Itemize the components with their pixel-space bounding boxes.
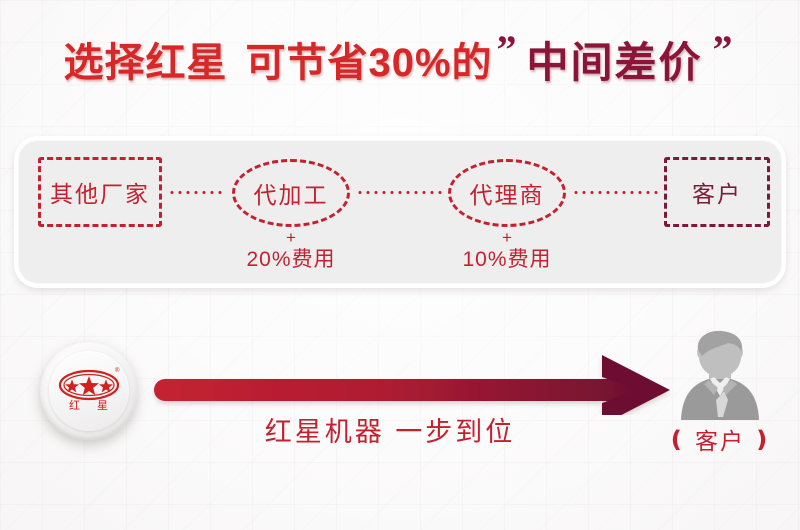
connector-dots-3 xyxy=(572,191,658,194)
bracket-left-icon: ❪ xyxy=(667,426,688,453)
quote-close-mark: ” xyxy=(709,26,737,73)
customer-caption: ❪ 客户 ❫ xyxy=(652,423,788,455)
chain-node-other-factory-label: 其他厂家 xyxy=(50,175,150,209)
fee-plus-sign-agent: + xyxy=(427,230,587,246)
chain-node-oem-label: 代加工 xyxy=(254,176,329,210)
chain-node-client-label: 客户 xyxy=(692,175,742,209)
chain-node-oem: 代加工 xyxy=(232,159,350,227)
headline-middle: 可节省30%的 xyxy=(245,30,492,88)
fee-amount-agent: 10%费用 xyxy=(427,246,587,274)
supply-chain-panel: 其他厂家 代加工 代理商 客户 + 20%费用 + 10%费用 xyxy=(14,136,786,288)
customer-avatar xyxy=(666,322,774,430)
chain-node-agent-label: 代理商 xyxy=(470,176,545,210)
connector-dots-1 xyxy=(168,191,226,194)
hongxing-logo-inner: ® 红 星 xyxy=(49,351,129,431)
hongxing-logo-badge: ® 红 星 xyxy=(40,342,137,440)
fee-plus-sign-oem: + xyxy=(211,230,371,246)
headline-lead: 选择红星 xyxy=(63,30,227,88)
chain-node-agent: 代理商 xyxy=(448,159,566,227)
process-arrow-icon xyxy=(150,355,680,415)
person-silhouette-icon xyxy=(666,322,774,430)
quote-open-mark: ” xyxy=(493,26,521,73)
chain-node-client: 客户 xyxy=(664,157,770,227)
hongxing-logo-icon: ® 红 星 xyxy=(49,351,129,431)
bracket-right-icon: ❫ xyxy=(752,426,773,453)
process-arrow xyxy=(150,355,680,415)
slogan-text: 红星机器 一步到位 xyxy=(150,410,630,449)
customer-caption-label: 客户 xyxy=(695,422,745,456)
svg-text:红: 红 xyxy=(69,399,80,412)
fee-markup-oem: + 20%费用 xyxy=(211,230,371,274)
fee-amount-oem: 20%费用 xyxy=(211,246,371,274)
chain-node-other-factory: 其他厂家 xyxy=(38,157,162,227)
headline-highlight: 中间差价 xyxy=(521,29,709,90)
headline: 选择红星 可节省30%的 ” 中间差价 ” xyxy=(0,26,800,92)
svg-text:®: ® xyxy=(115,367,120,374)
svg-text:星: 星 xyxy=(97,399,108,412)
connector-dots-2 xyxy=(356,191,442,194)
fee-markup-agent: + 10%费用 xyxy=(427,230,587,274)
